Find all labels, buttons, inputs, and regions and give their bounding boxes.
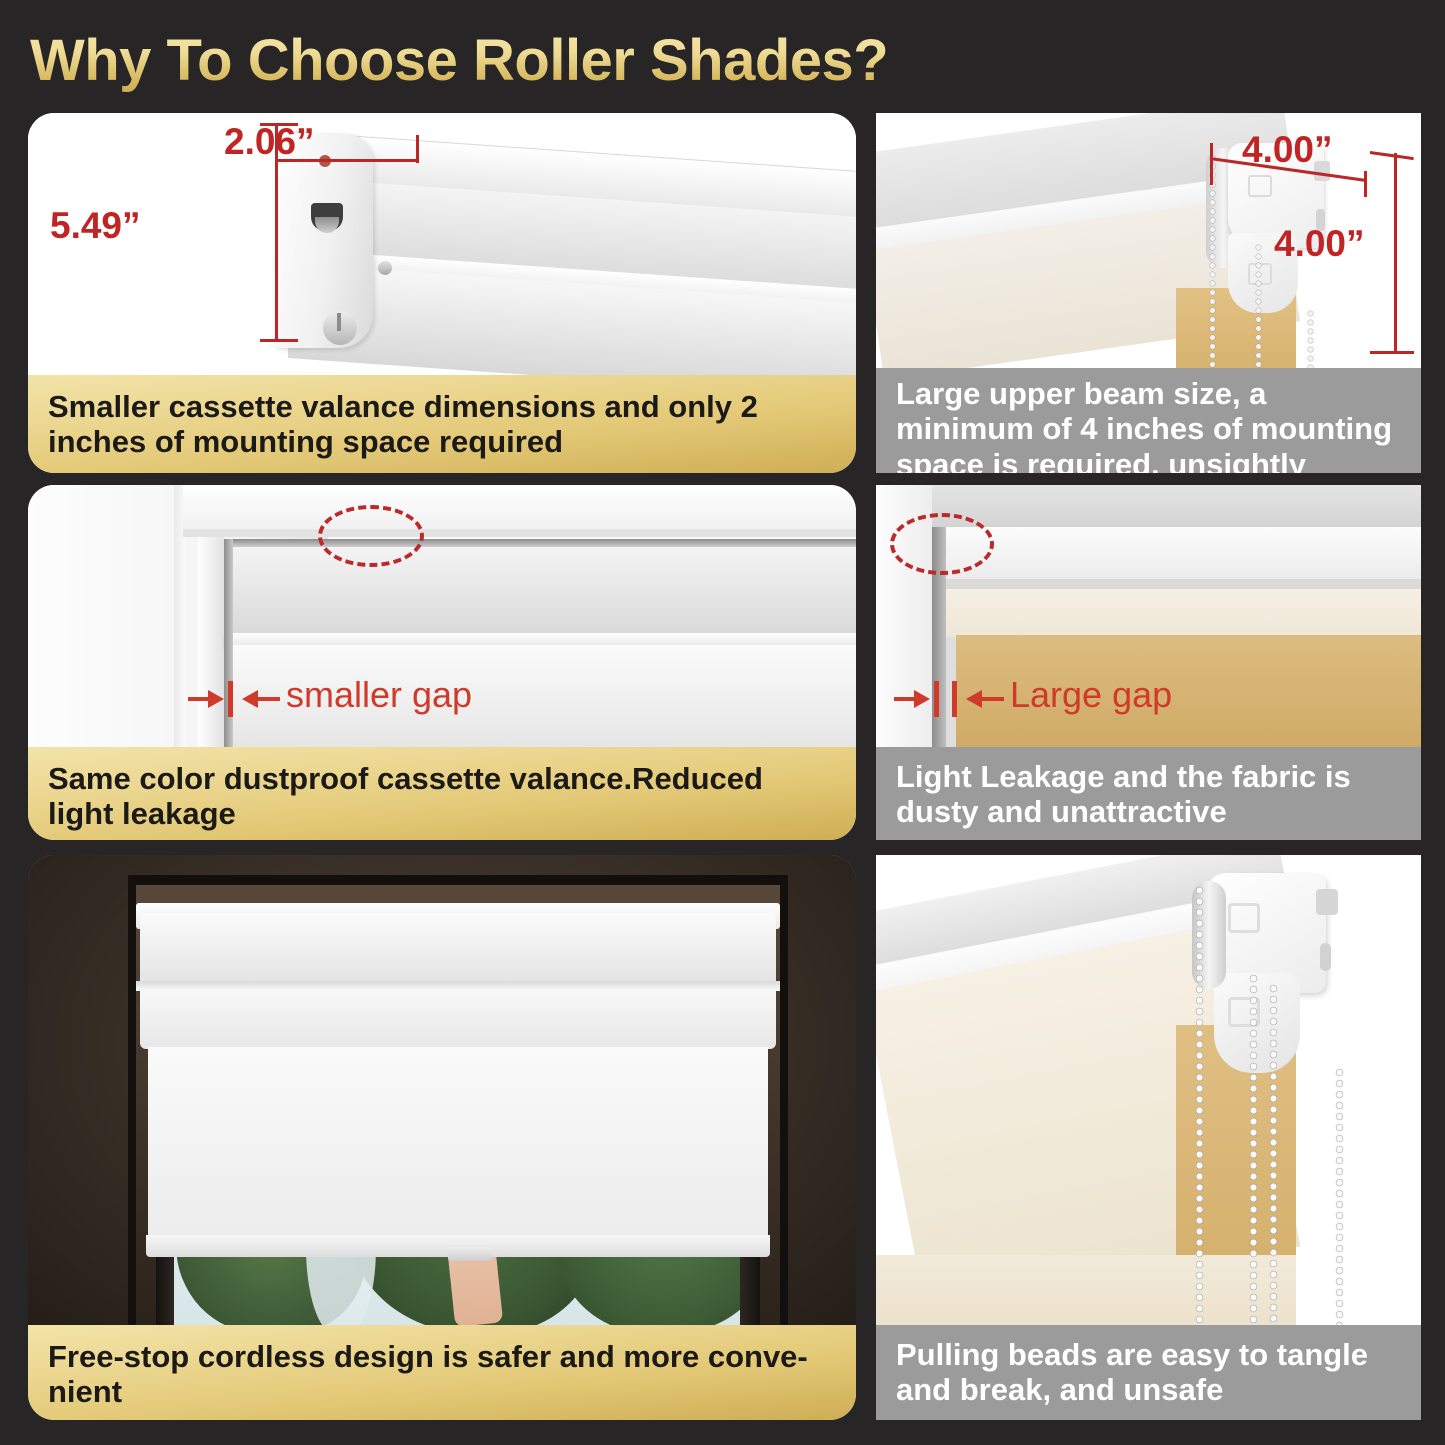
height-dimension-tick-top [260,123,298,126]
height-dimension-label: 5.49” [50,205,141,247]
panel-light-leakage: Large gap Light Leakage and the fabric i… [876,485,1421,840]
caption-line: dusty and unattractive [896,794,1351,829]
width-dimension-label: 2.06” [224,121,315,163]
large-gap-label: Large gap [1010,674,1172,716]
caption-line: nient [48,1374,808,1409]
gap-highlight-ellipse [318,505,424,567]
gap-highlight-ellipse [890,513,994,575]
caption-pulling-beads: Pulling beads are easy to tangle and bre… [876,1325,1421,1420]
caption-line: inches of mounting space required [48,424,758,459]
gap-measure-bar [952,681,957,717]
caption-large-upper-beam: Large upper beam size, a minimum of 4 in… [876,368,1421,473]
gap-arrow-right-icon [914,690,930,708]
photo-dustproof-valance: smaller gap [28,485,856,747]
caption-line: Smaller cassette valance dimensions and … [48,389,758,424]
panel-large-upper-beam: 4.00” 4.00” Large upper beam size, a min… [876,113,1421,473]
caption-line: Light Leakage and the fabric is [896,759,1351,794]
photo-free-stop-cordless [28,855,856,1325]
page-title: Why To Choose Roller Shades? [30,20,1030,100]
caption-line: Free-stop cordless design is safer and m… [48,1339,808,1374]
gap-arrow-stem-left [188,697,210,701]
panel-cassette-valance-dimensions: 2.06” 5.49” Smaller cassette valance dim… [28,113,856,473]
beam-height-tick-top [1370,151,1414,160]
caption-cassette-valance-dimensions: Smaller cassette valance dimensions and … [28,375,856,473]
infographic-root: Why To Choose Roller Shades? 2.06” [0,0,1445,1445]
panel-dustproof-cassette-valance: smaller gap Same color dustproof cassett… [28,485,856,840]
caption-line: light leakage [48,796,763,831]
bead-chain [1306,309,1315,368]
caption-line: space is required, unsightly [896,447,1392,473]
photo-large-upper-beam: 4.00” 4.00” [876,113,1421,368]
photo-light-leakage: Large gap [876,485,1421,747]
height-dimension-tick-bottom [260,339,298,342]
caption-line: Pulling beads are easy to tangle [896,1337,1368,1372]
beam-width-tick-right [1364,171,1367,197]
panel-free-stop-cordless: Free-stop cordless design is safer and m… [28,855,856,1420]
caption-line: and break, and unsafe [896,1372,1368,1407]
gap-arrow-stem-right [256,697,280,701]
bead-chain [1208,153,1217,368]
caption-dustproof-cassette-valance: Same color dustproof cassette valance.Re… [28,747,856,840]
bead-chain [1194,885,1205,1325]
gap-measure-bar [934,681,939,717]
gap-arrow-right-icon [208,690,224,708]
bead-chain [1254,243,1263,368]
beam-height-rule [1394,153,1397,353]
smaller-gap-label: smaller gap [286,674,472,716]
bead-chain [1248,973,1259,1325]
gap-arrow-stem-left [894,697,916,701]
photo-cassette-valance: 2.06” 5.49” [28,113,856,375]
photo-pulling-beads [876,855,1421,1325]
caption-line: minimum of 4 inches of mounting [896,411,1392,446]
bead-chain [1334,1067,1345,1325]
beam-height-tick-bottom [1370,351,1414,354]
caption-line: Large upper beam size, a [896,376,1392,411]
gap-measure-bar [228,681,233,717]
beam-height-label: 4.00” [1274,223,1365,265]
caption-light-leakage: Light Leakage and the fabric is dusty an… [876,747,1421,840]
gap-arrow-stem-right [980,697,1004,701]
caption-line: Same color dustproof cassette valance.Re… [48,761,763,796]
width-dimension-tick-right [416,135,419,163]
caption-free-stop-cordless: Free-stop cordless design is safer and m… [28,1325,856,1420]
height-dimension-rule [275,123,278,341]
panel-pulling-beads: Pulling beads are easy to tangle and bre… [876,855,1421,1420]
beam-width-label: 4.00” [1242,129,1333,171]
bead-chain [1268,983,1279,1325]
beam-width-tick-left [1210,143,1213,185]
